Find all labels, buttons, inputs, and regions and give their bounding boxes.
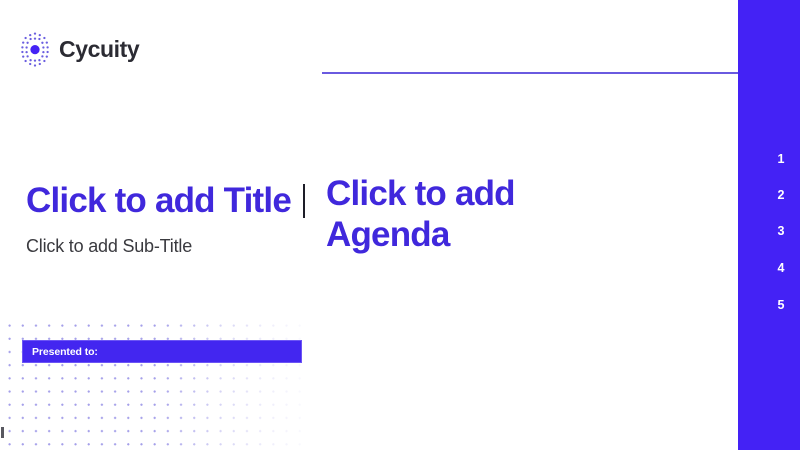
agenda-header-rule	[322, 72, 738, 74]
title-placeholder[interactable]: Click to add Title	[26, 182, 306, 220]
agenda-number-5[interactable]: 5	[774, 299, 788, 312]
presented-to-band[interactable]: Presented to:	[22, 340, 302, 363]
left-edge-marker	[1, 427, 4, 438]
agenda-number-2[interactable]: 2	[774, 189, 788, 202]
slide-divider	[305, 0, 306, 450]
slide-canvas: Cycuity Click to add Title Click to add …	[0, 0, 800, 450]
agenda-number-1[interactable]: 1	[774, 153, 788, 166]
agenda-number-3[interactable]: 3	[774, 225, 788, 238]
subtitle-placeholder[interactable]: Click to add Sub-Title	[26, 236, 192, 257]
presented-to-label: Presented to:	[23, 346, 98, 358]
agenda-slide[interactable]: Click to add Agenda 1 2 3 4 5	[306, 0, 800, 450]
agenda-number-4[interactable]: 4	[774, 262, 788, 275]
cycuity-wordmark: Cycuity	[59, 38, 139, 61]
agenda-title-placeholder[interactable]: Click to add Agenda	[326, 174, 596, 256]
dot-pattern-decoration	[0, 316, 306, 450]
cycuity-hex-dot-logo-icon	[18, 31, 52, 67]
agenda-number-rail: 1 2 3 4 5	[738, 0, 800, 450]
title-slide[interactable]: Cycuity Click to add Title Click to add …	[0, 0, 306, 450]
cycuity-logo-lockup: Cycuity	[18, 31, 139, 67]
